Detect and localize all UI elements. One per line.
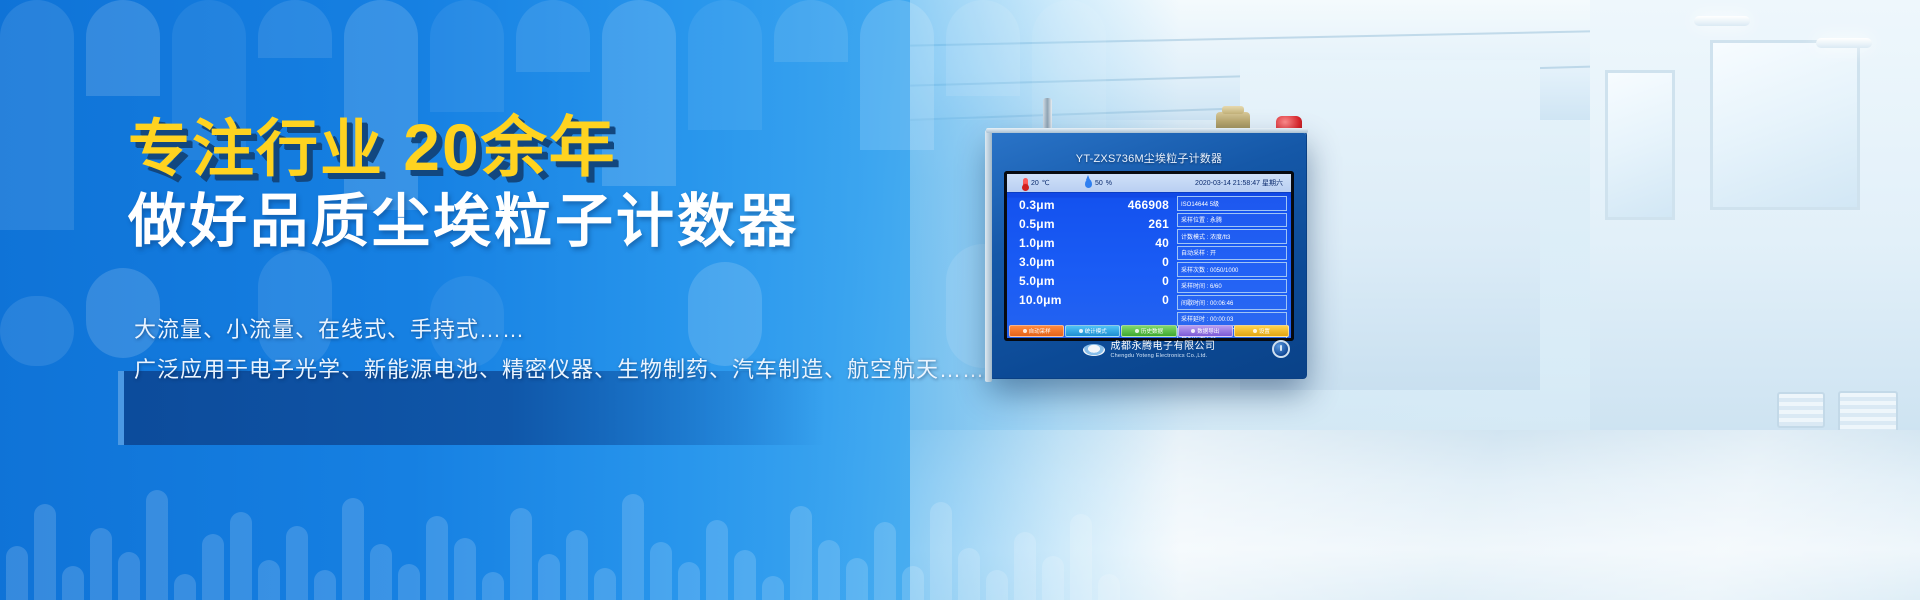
settings-label: 设置 xyxy=(1259,327,1270,335)
brand-name-en: Chengdu Yoteng Electronics Co.,Ltd. xyxy=(1111,353,1216,360)
table-row: 1.0μm 40 xyxy=(1007,233,1175,252)
statistics-mode-label: 统计模式 xyxy=(1085,327,1107,335)
list-item: 采样次数 : 0050/1000 xyxy=(1177,262,1287,277)
temperature-value: 20 xyxy=(1031,180,1039,187)
headline-main: 专注行业 xyxy=(128,115,403,184)
temperature-readout: 20 ℃ xyxy=(1023,178,1050,189)
list-item: 采样时间 : 6/60 xyxy=(1177,279,1287,294)
humidity-unit: % xyxy=(1106,180,1112,187)
datetime-readout: 2020-03-14 21:58:47 星期六 xyxy=(1195,178,1283,188)
record-icon xyxy=(1023,329,1027,333)
list-item: 间歇时间 : 00:06:46 xyxy=(1177,295,1287,310)
banner-stage: 专注行业 20余年 做好品质尘埃粒子计数器 大流量、小流量、在线式、手持式…… … xyxy=(0,0,1920,600)
particle-size: 5.0μm xyxy=(1019,274,1055,288)
temperature-unit: ℃ xyxy=(1042,179,1050,187)
list-item: ISO14644 5级 xyxy=(1177,196,1287,211)
status-bar: 20 ℃ 50 % 2020-03-14 21:58:47 星期六 xyxy=(1007,174,1291,193)
auto-sample-button[interactable]: 自动采样 xyxy=(1009,325,1064,337)
device-top-edge xyxy=(986,128,1308,133)
table-row: 10.0μm 0 xyxy=(1007,290,1175,309)
headline-subtitle: 做好品质尘埃粒子计数器 xyxy=(128,190,868,255)
device-model-label: YT-ZXS736M尘埃粒子计数器 xyxy=(990,150,1308,166)
screen-button-bar: 自动采样 统计模式 历史数据 数据导出 xyxy=(1007,324,1291,338)
settings-panel: ISO14644 5级 采样位置 : 永腾 计数模式 : 浓度/ft3 自动采样… xyxy=(1177,196,1287,338)
particle-count: 466908 xyxy=(1128,198,1169,212)
gear-icon xyxy=(1253,329,1257,333)
list-item: 采样位置 : 永腾 xyxy=(1177,213,1287,228)
history-data-label: 历史数据 xyxy=(1141,327,1163,335)
subtitle-line-1: 大流量、小流量、在线式、手持式…… xyxy=(134,312,525,344)
equalizer-pattern xyxy=(0,470,1150,600)
brand-name-cn: 成都永腾电子有限公司 xyxy=(1111,341,1216,354)
humidity-readout: 50 % xyxy=(1085,179,1112,188)
list-item: 自动采样 : 开 xyxy=(1177,246,1287,261)
table-row: 5.0μm 0 xyxy=(1007,271,1175,290)
export-icon xyxy=(1191,329,1195,333)
particle-count: 0 xyxy=(1162,274,1169,288)
export-data-label: 数据导出 xyxy=(1197,327,1219,335)
settings-button[interactable]: 设置 xyxy=(1234,325,1289,337)
list-item: 计数模式 : 浓度/ft3 xyxy=(1177,229,1287,244)
hero-copy: 专注行业 20余年 做好品质尘埃粒子计数器 xyxy=(128,112,868,255)
history-icon xyxy=(1135,329,1139,333)
statistics-mode-button[interactable]: 统计模式 xyxy=(1065,325,1120,337)
particle-size: 0.3μm xyxy=(1019,198,1055,212)
water-drop-icon xyxy=(1085,179,1092,188)
device-screen[interactable]: 20 ℃ 50 % 2020-03-14 21:58:47 星期六 0.3μm xyxy=(1004,171,1294,341)
headline-years: 20余年 xyxy=(403,110,616,184)
history-data-button[interactable]: 历史数据 xyxy=(1121,325,1176,337)
particle-count: 0 xyxy=(1162,255,1169,269)
yoteng-logo-icon xyxy=(1083,344,1105,356)
table-row: 0.5μm 261 xyxy=(1007,214,1175,233)
export-data-button[interactable]: 数据导出 xyxy=(1178,325,1233,337)
page-title: 专注行业 20余年 xyxy=(128,112,868,184)
particle-count-table: 0.3μm 466908 0.5μm 261 1.0μm 40 3.0μm xyxy=(1007,195,1175,309)
particle-size: 10.0μm xyxy=(1019,293,1062,307)
auto-sample-label: 自动采样 xyxy=(1029,327,1051,335)
chart-icon xyxy=(1079,329,1083,333)
particle-size: 3.0μm xyxy=(1019,255,1055,269)
device-branding: 成都永腾电子有限公司 Chengdu Yoteng Electronics Co… xyxy=(990,341,1308,360)
particle-count: 40 xyxy=(1155,236,1169,250)
subtitle-line-2: 广泛应用于电子光学、新能源电池、精密仪器、生物制药、汽车制造、航空航天…… xyxy=(134,352,985,384)
particle-size: 0.5μm xyxy=(1019,217,1055,231)
particle-count: 0 xyxy=(1162,293,1169,307)
power-button[interactable] xyxy=(1272,340,1290,358)
particle-count: 261 xyxy=(1148,217,1169,231)
humidity-value: 50 xyxy=(1095,180,1103,187)
table-row: 3.0μm 0 xyxy=(1007,252,1175,271)
thermometer-icon xyxy=(1023,178,1028,189)
particle-size: 1.0μm xyxy=(1019,236,1055,250)
particle-counter-device: YT-ZXS736M尘埃粒子计数器 20 ℃ 50 % 2020-03-14 2… xyxy=(989,131,1307,379)
table-row: 0.3μm 466908 xyxy=(1007,195,1175,214)
